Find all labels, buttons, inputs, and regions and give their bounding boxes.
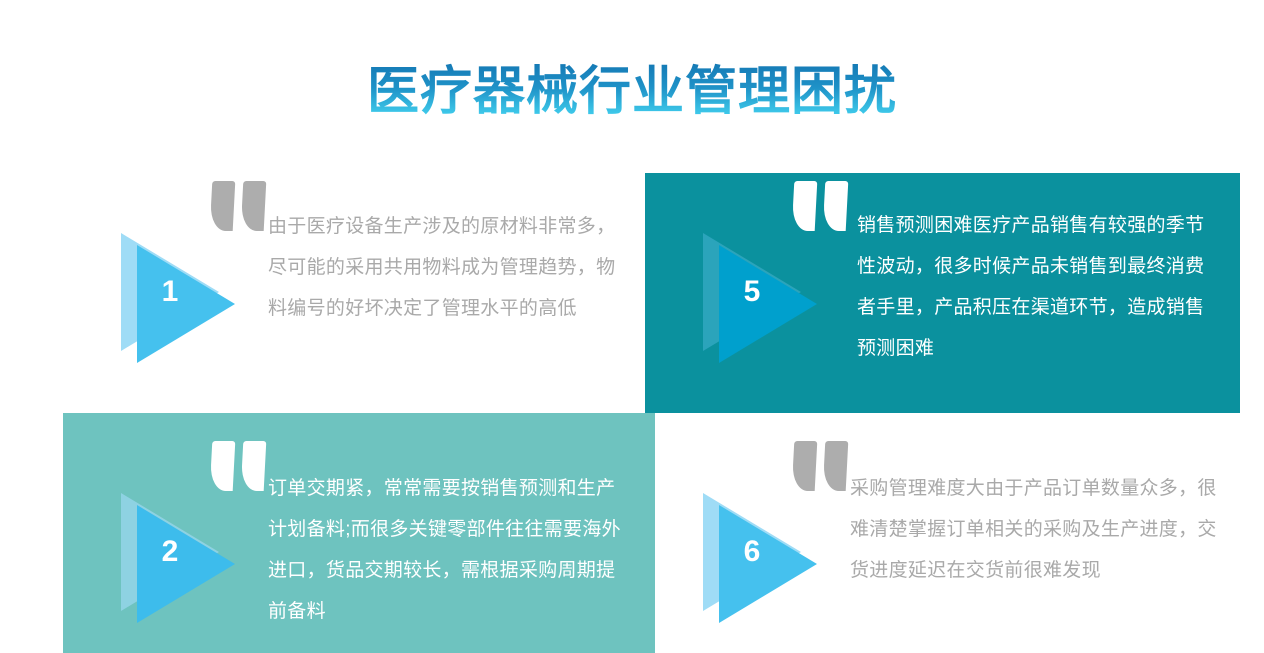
quote-stroke-right	[241, 441, 267, 491]
page-title: 医疗器械行业管理困扰	[367, 63, 897, 123]
open-quote-icon-6	[793, 441, 855, 497]
panel-number-5: 5	[731, 277, 773, 307]
open-quote-icon-5	[793, 181, 855, 237]
panel-body-text-1: 由于医疗设备生产涉及的原材料非常多，尽可能的采用共用物料成为管理趋势，物料编号的…	[268, 206, 628, 329]
panel-number-1: 1	[149, 277, 191, 307]
panel-body-text-6: 采购管理难度大由于产品订单数量众多，很难清楚掌握订单相关的采购及生产进度，交货进…	[850, 468, 1220, 591]
quote-stroke-left	[792, 181, 818, 231]
panel-body-text-5: 销售预测困难医疗产品销售有较强的季节性波动，很多时候产品未销售到最终消费者手里，…	[857, 205, 1209, 369]
open-quote-icon-2	[211, 441, 273, 497]
quote-panel-1: 1 由于医疗设备生产涉及的原材料非常多，尽可能的采用共用物料成为管理趋势，物料编…	[63, 173, 655, 413]
quote-panel-2: 2 订单交期紧，常常需要按销售预测和生产计划备料;而很多关键零部件往往需要海外进…	[63, 413, 655, 653]
panel-number-6: 6	[731, 537, 773, 567]
arrow-marker-6: 6	[701, 493, 833, 621]
quote-panel-6: 6 采购管理难度大由于产品订单数量众多，很难清楚掌握订单相关的采购及生产进度，交…	[645, 413, 1240, 653]
quote-stroke-left	[210, 181, 236, 231]
page-title-container: 医疗器械行业管理困扰	[0, 28, 1264, 157]
arrow-marker-2: 2	[119, 493, 251, 621]
panel-number-2: 2	[149, 537, 191, 567]
panel-body-text-2: 订单交期紧，常常需要按销售预测和生产计划备料;而很多关键零部件往往需要海外进口，…	[268, 468, 630, 632]
arrow-marker-5: 5	[701, 233, 833, 361]
quote-stroke-right	[823, 441, 849, 491]
quote-panel-5: 5 销售预测困难医疗产品销售有较强的季节性波动，很多时候产品未销售到最终消费者手…	[645, 173, 1240, 413]
quote-stroke-left	[210, 441, 236, 491]
quote-stroke-left	[792, 441, 818, 491]
quote-stroke-right	[823, 181, 849, 231]
arrow-marker-1: 1	[119, 233, 251, 361]
open-quote-icon-1	[211, 181, 273, 237]
quote-stroke-right	[241, 181, 267, 231]
